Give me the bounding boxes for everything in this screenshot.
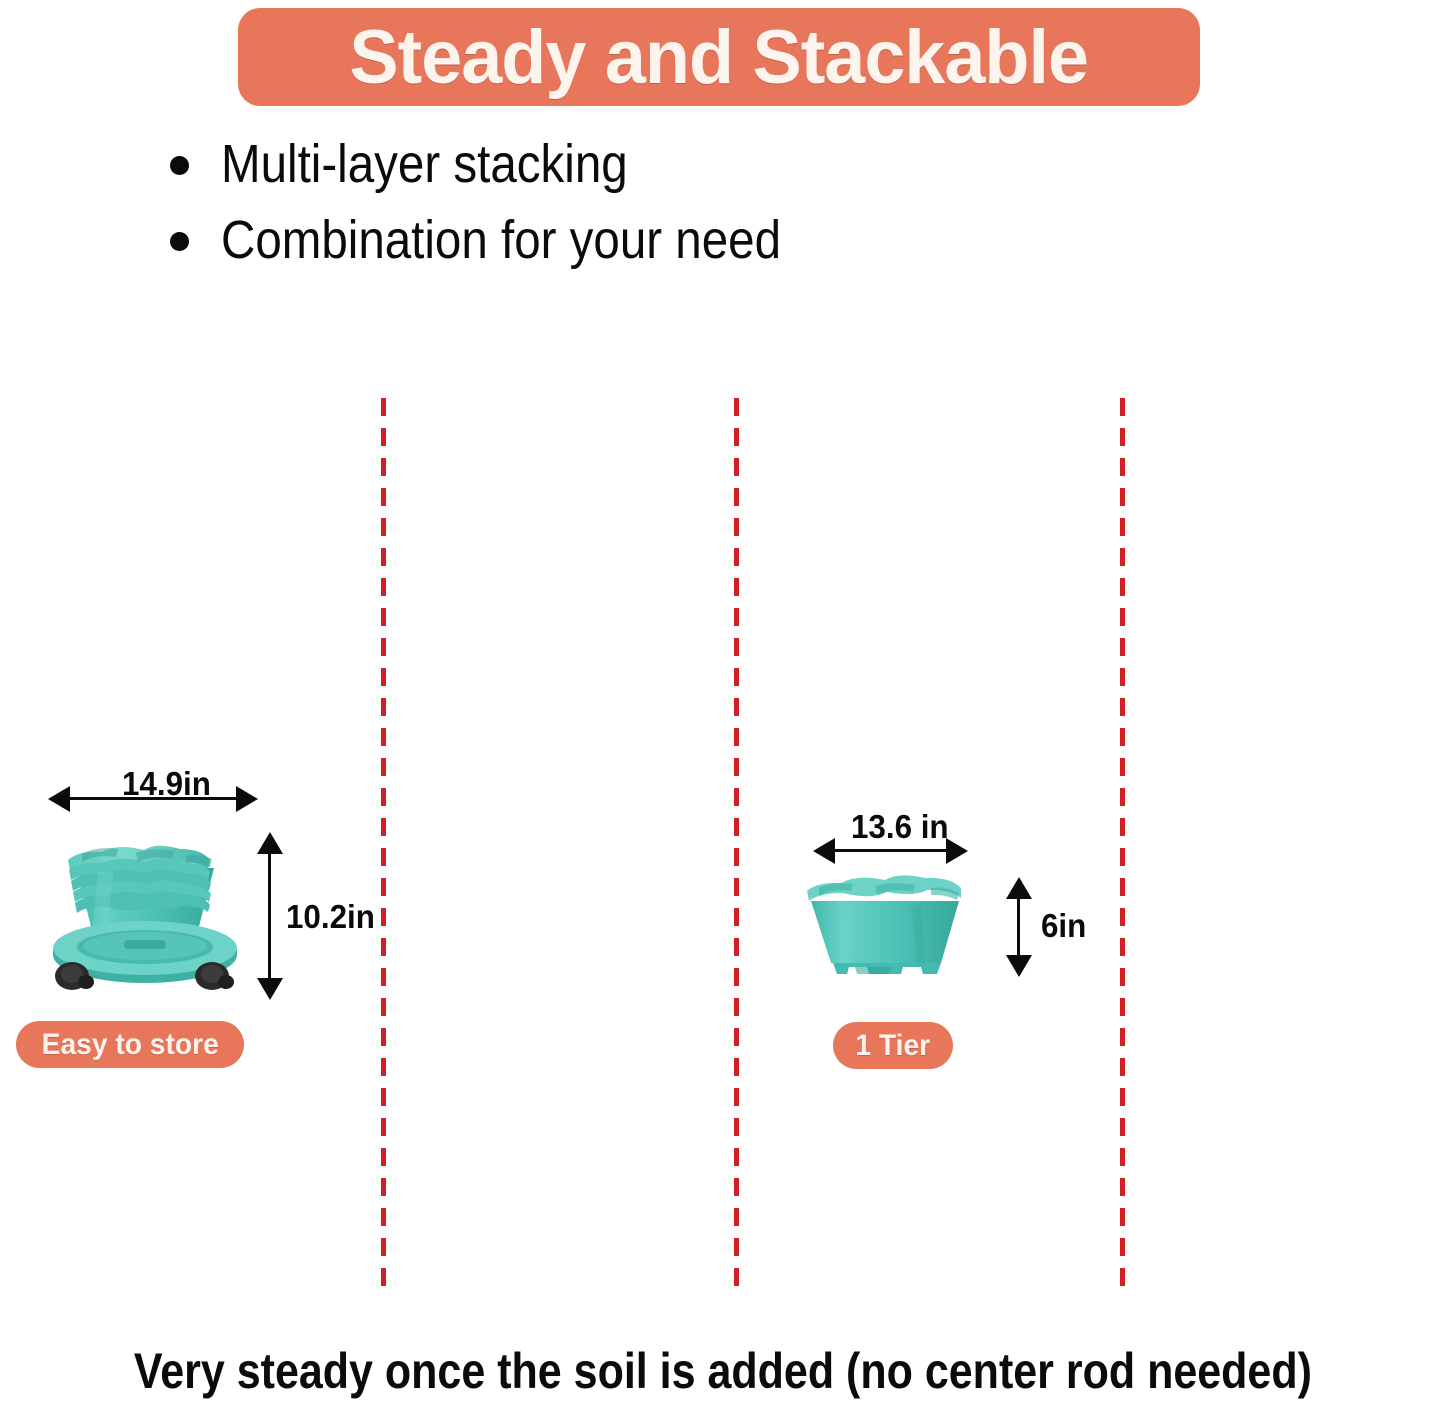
panel-6-tier: 35 in bbox=[1120, 720, 1445, 1290]
width-dimension-label: 14.9in bbox=[122, 765, 211, 803]
panel-easy-to-store: 14.9in 10.2in bbox=[0, 380, 381, 700]
panel-2-tier: 12.5 in bbox=[734, 380, 1120, 700]
list-item: Multi-layer stacking bbox=[170, 130, 1170, 206]
footer-text: Very steady once the soil is added (no c… bbox=[133, 1342, 1311, 1400]
product-infographic: Steady and Stackable Multi-layer stackin… bbox=[0, 0, 1445, 1415]
bullet-dot-icon bbox=[170, 156, 189, 175]
panel-1-tier: 13.6 in 6in bbox=[381, 380, 734, 700]
page-title: Steady and Stackable bbox=[350, 14, 1089, 101]
panel-3-tier: 17.5 in bbox=[0, 860, 381, 1290]
panel-5-tier: 29 in bbox=[734, 760, 1120, 1290]
list-item: Combination for your need bbox=[170, 206, 1170, 282]
title-banner: Steady and Stackable bbox=[238, 8, 1200, 106]
panel-4-tier: 24 in bbox=[381, 780, 734, 1290]
feature-bullet-list: Multi-layer stacking Combination for you… bbox=[170, 130, 1170, 282]
bullet-text: Combination for your need bbox=[221, 206, 781, 274]
bullet-text: Multi-layer stacking bbox=[221, 130, 628, 198]
bullet-dot-icon bbox=[170, 232, 189, 251]
footer-caption: Very steady once the soil is added (no c… bbox=[0, 1342, 1445, 1400]
